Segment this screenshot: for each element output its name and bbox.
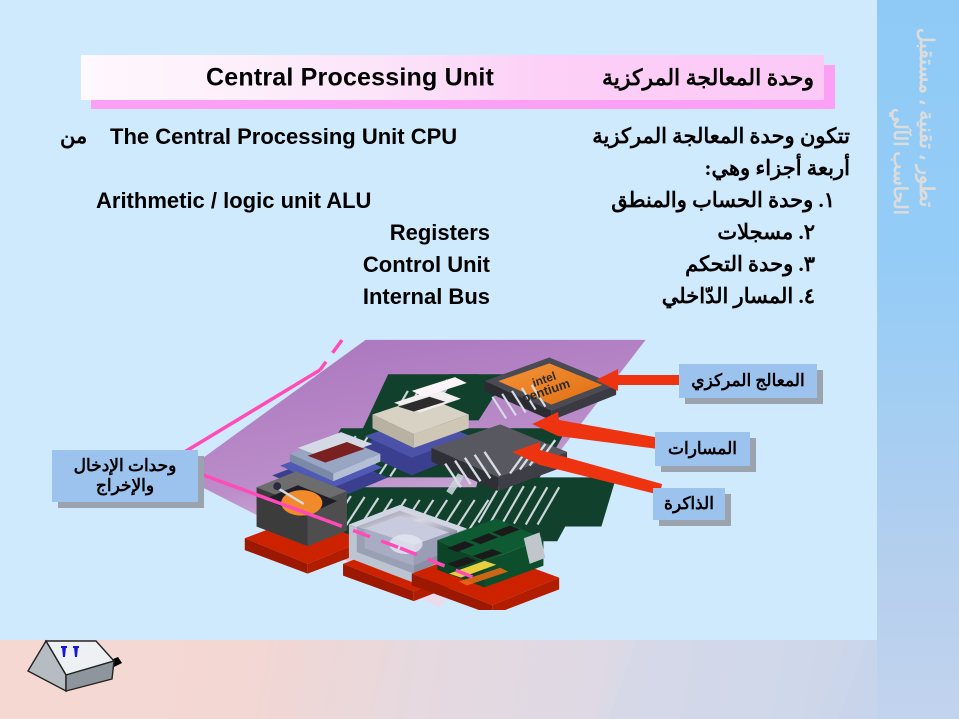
page-title-english: Central Processing Unit bbox=[206, 63, 494, 92]
list-item-3-arabic: ٣. وحدة التحكم bbox=[685, 252, 815, 277]
callout-memory[interactable]: الذاكرة bbox=[653, 488, 725, 520]
page-title-arabic: وحدة المعالجة المركزية bbox=[602, 65, 814, 91]
title-bar: Central Processing Unit وحدة المعالجة ال… bbox=[81, 55, 824, 100]
callout-memory-label: الذاكرة bbox=[664, 494, 714, 514]
list-item-3: ٣. وحدة التحكم Control Unit bbox=[60, 252, 850, 284]
list-item-1-arabic: ١. وحدة الحساب والمنطق bbox=[611, 188, 835, 213]
slide-canvas: تطور ، تقنية ، مستقبل الحاسب الآلي Centr… bbox=[0, 0, 959, 719]
side-band: تطور ، تقنية ، مستقبل الحاسب الآلي bbox=[877, 0, 959, 719]
keycap-page-number bbox=[22, 627, 132, 705]
callout-cpu[interactable]: المعالج المركزي bbox=[679, 364, 817, 398]
list-item-2-arabic: ٢. مسجلات bbox=[717, 220, 815, 245]
callout-bus-label: المسارات bbox=[668, 439, 737, 459]
intro-arabic-left: من bbox=[60, 124, 87, 149]
list-item-1: ١. وحدة الحساب والمنطق Arithmetic / logi… bbox=[60, 188, 850, 220]
callout-io-units[interactable]: وحدات الإدخال والإخراج bbox=[52, 450, 198, 502]
callout-bus[interactable]: المسارات bbox=[655, 432, 750, 466]
list-item-3-english: Control Unit bbox=[363, 252, 490, 278]
list-item-2: ٢. مسجلات Registers bbox=[60, 220, 850, 252]
intro-line-2: أربعة أجزاء وهي: bbox=[60, 156, 850, 188]
callout-cpu-label: المعالج المركزي bbox=[691, 371, 804, 391]
intro-line-1: تتكون وحدة المعالجة المركزية The Central… bbox=[60, 124, 850, 156]
body-text: تتكون وحدة المعالجة المركزية The Central… bbox=[60, 124, 850, 316]
list-item-4-arabic: ٤. المسار الدّاخلي bbox=[662, 284, 815, 309]
callout-io-label-line1: وحدات الإدخال bbox=[74, 456, 177, 476]
arrow-to-memory bbox=[512, 442, 662, 496]
intro-english: The Central Processing Unit CPU bbox=[110, 124, 457, 150]
side-band-text-line1: تطور ، تقنية ، مستقبل bbox=[914, 28, 939, 207]
list-item-1-english: Arithmetic / logic unit ALU bbox=[96, 188, 371, 214]
side-band-text-line2: الحاسب الآلي bbox=[888, 108, 911, 215]
list-item-2-english: Registers bbox=[390, 220, 490, 246]
arrow-to-cpu bbox=[596, 366, 688, 394]
list-item-4-english: Internal Bus bbox=[363, 284, 490, 310]
intro-arabic-right: تتكون وحدة المعالجة المركزية bbox=[592, 124, 850, 149]
callout-io-label-line2: والإخراج bbox=[74, 476, 177, 496]
list-item-4: ٤. المسار الدّاخلي Internal Bus bbox=[60, 284, 850, 316]
intro-line2-arabic: أربعة أجزاء وهي: bbox=[704, 156, 850, 181]
